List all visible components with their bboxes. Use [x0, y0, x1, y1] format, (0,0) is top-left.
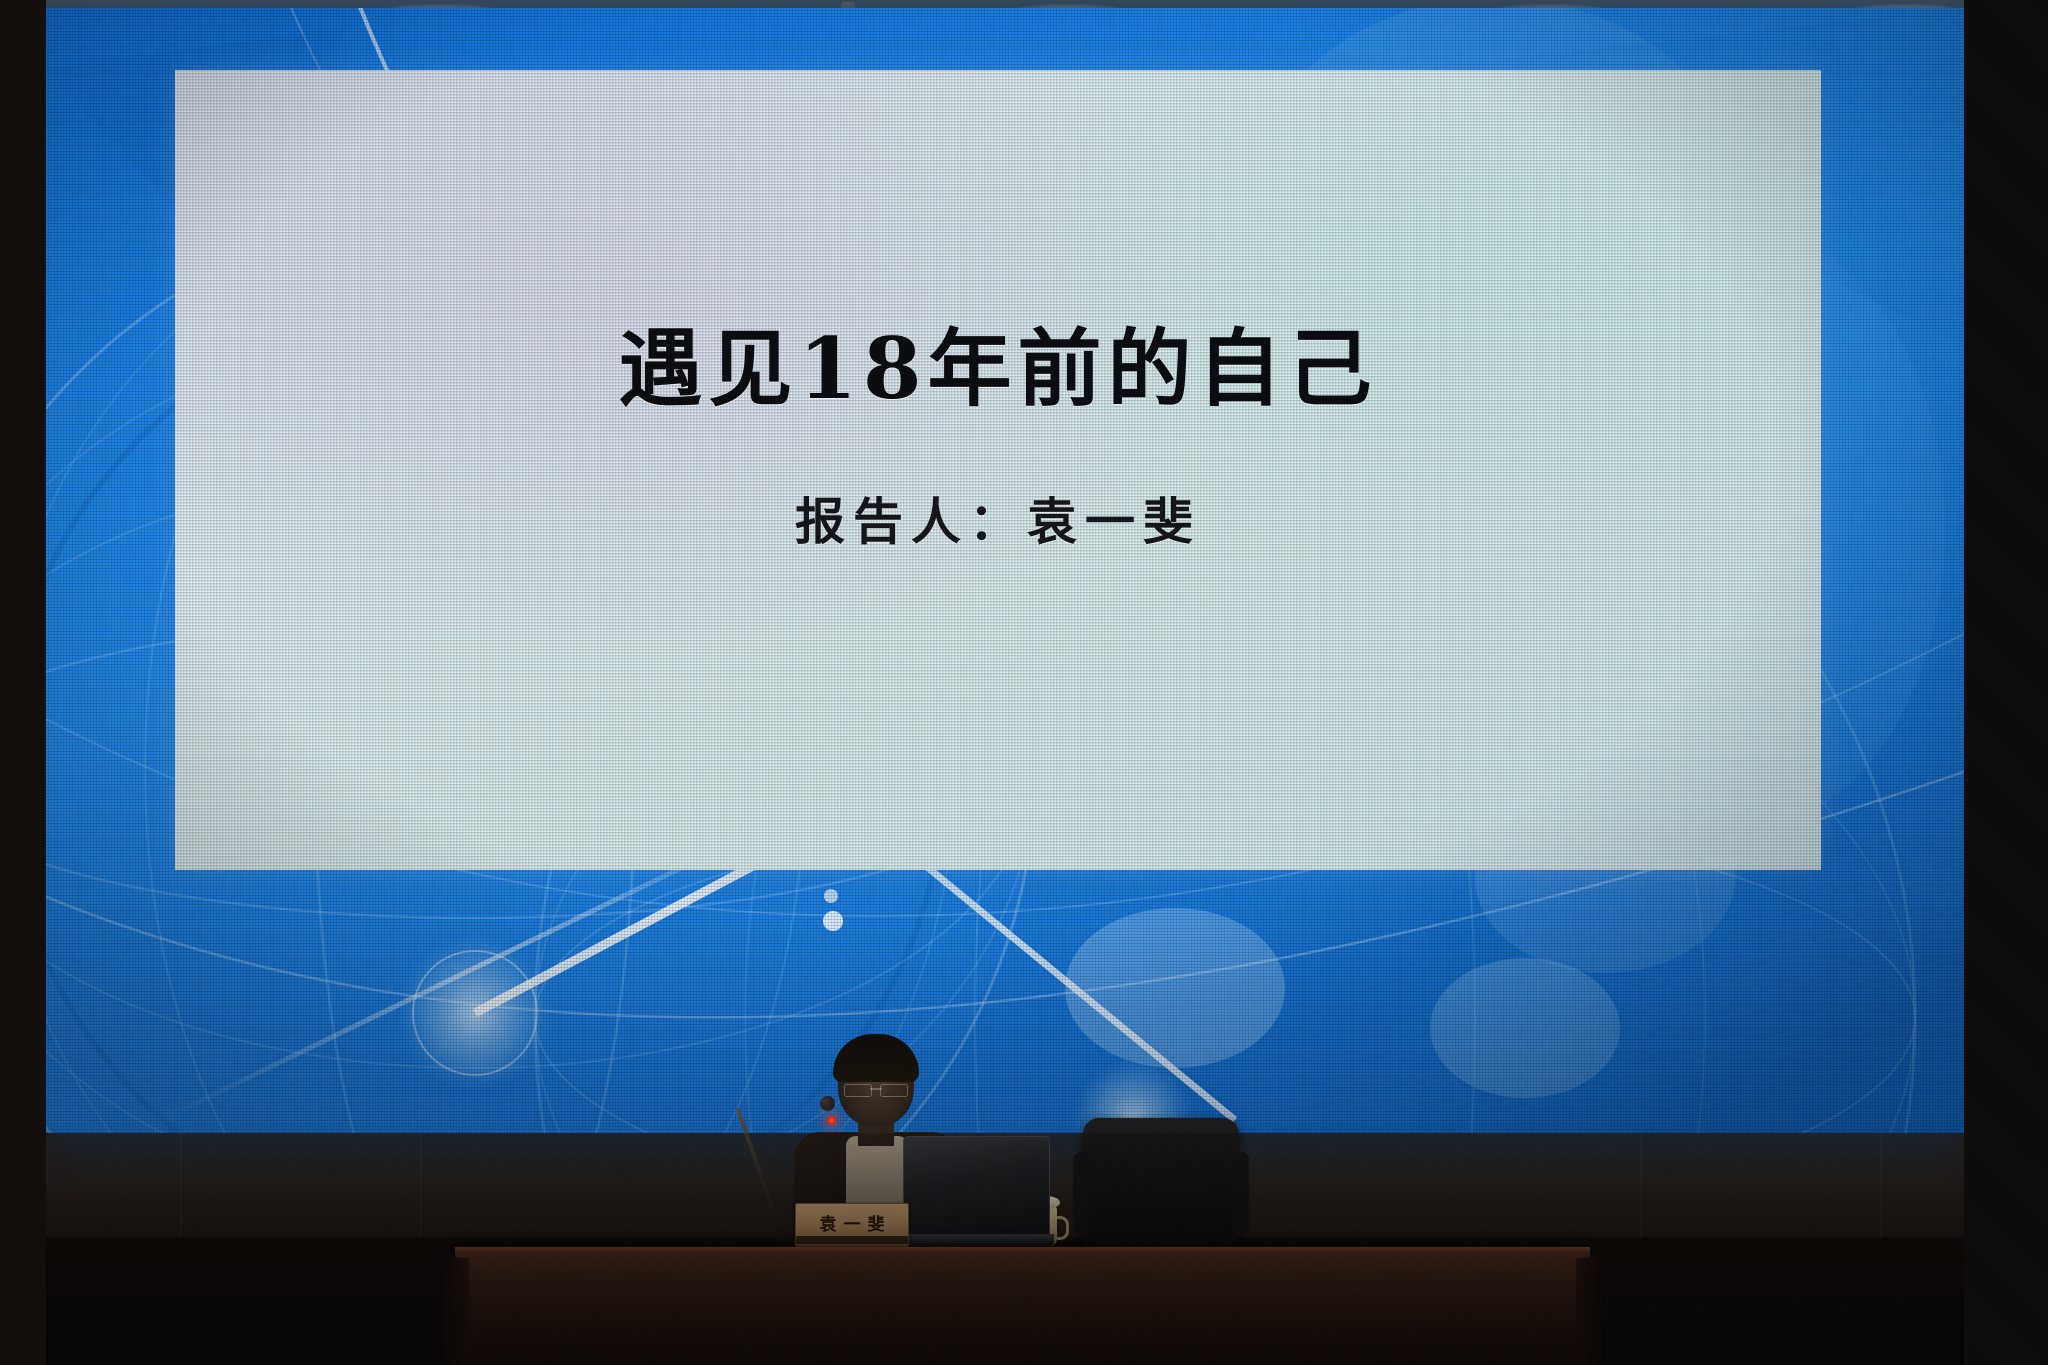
slide-subtitle-presenter: 报告人：袁一斐: [175, 482, 1821, 554]
microphone-head: [820, 1096, 835, 1111]
laptop-base: [897, 1234, 1054, 1246]
name-placard: 袁一斐: [795, 1203, 909, 1247]
laptop-lid: [903, 1136, 1050, 1238]
slide-content-panel: 遇见18年前的自己 报告人：袁一斐: [175, 70, 1821, 870]
table-left-side: [443, 1256, 469, 1365]
left-dark-border: [0, 0, 46, 1365]
wall-seam: [180, 1133, 182, 1253]
photo-stage: 遇见18年前的自己 报告人：袁一斐: [0, 0, 2048, 1365]
glasses-icon: [844, 1084, 908, 1095]
slide-title: 遇见18年前的自己: [175, 302, 1821, 423]
wall-seam: [420, 1133, 422, 1253]
chair-arm-left: [1073, 1152, 1089, 1236]
chair-icon: [1083, 1118, 1239, 1248]
name-placard-text: 袁一斐: [813, 1217, 892, 1234]
presenter-table: [455, 1247, 1590, 1365]
microphone-led-indicator: [827, 1116, 836, 1125]
hair: [833, 1034, 919, 1082]
chair-arm-right: [1233, 1152, 1249, 1236]
table-right-side: [1576, 1256, 1602, 1365]
laptop-icon: [903, 1136, 1048, 1248]
wall-seam: [1640, 1133, 1642, 1253]
name-placard-base-strip: [796, 1236, 908, 1244]
table-top-edge: [455, 1247, 1590, 1254]
led-screen: 遇见18年前的自己 报告人：袁一斐: [45, 8, 1965, 1133]
wall-seam: [1880, 1133, 1882, 1253]
right-dark-border: [1964, 0, 2048, 1365]
